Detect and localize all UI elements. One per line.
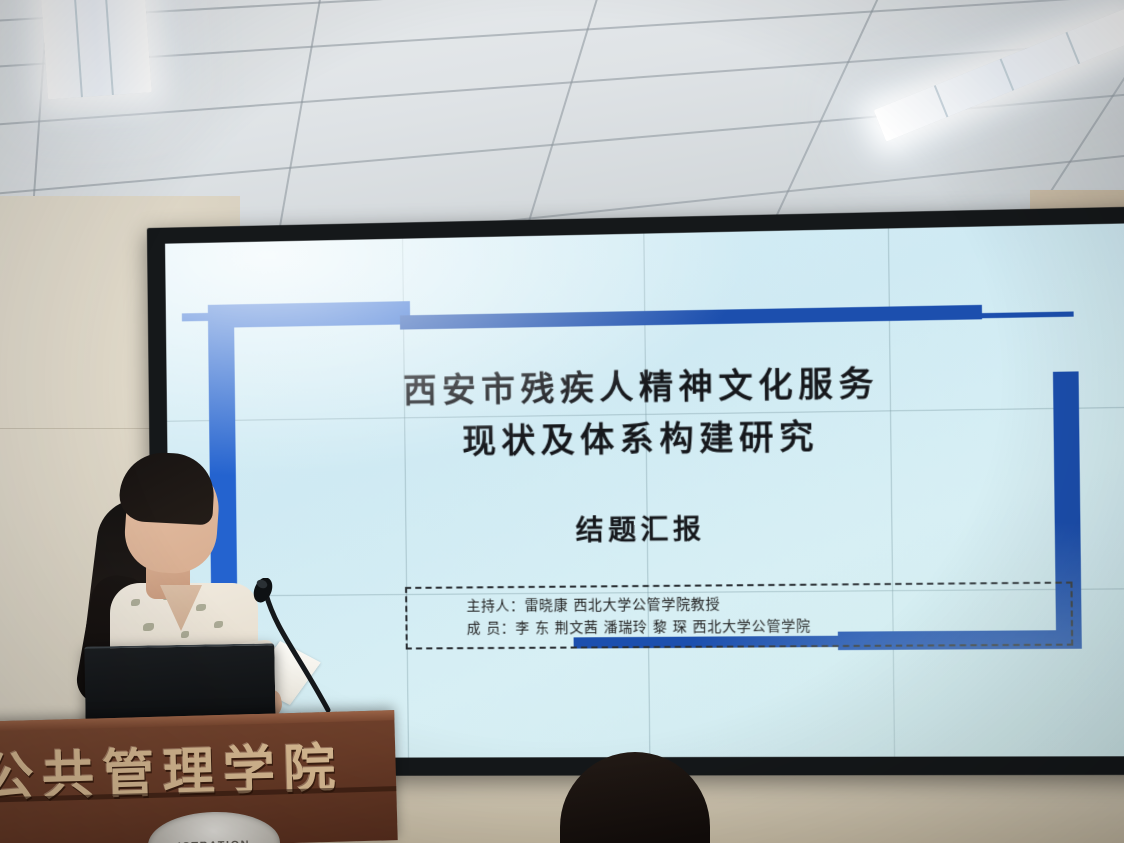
slide-title-line-2: 现状及体系构建研究 xyxy=(167,405,1124,467)
slide-subtitle: 结题汇报 xyxy=(168,502,1124,552)
podium-emblem-text: ISTRATION xyxy=(148,838,280,843)
slide-credits-box: 主持人：雷晓康 西北大学公管学院教授 成 员：李 东 荆文茜 潘瑞玲 黎 琛 西… xyxy=(405,582,1073,650)
presenter-hair-top xyxy=(118,451,216,526)
microphone-gooseneck xyxy=(266,594,328,710)
credit-line-members: 成 员：李 东 荆文茜 潘瑞玲 黎 琛 西北大学公管学院 xyxy=(467,615,1071,641)
ceiling-light-left xyxy=(40,0,152,99)
presentation-room-photo: 西安市残疾人精神文化服务 现状及体系构建研究 结题汇报 主持人：雷晓康 西北大学… xyxy=(0,0,1124,843)
gooseneck-microphone[interactable] xyxy=(236,578,356,718)
